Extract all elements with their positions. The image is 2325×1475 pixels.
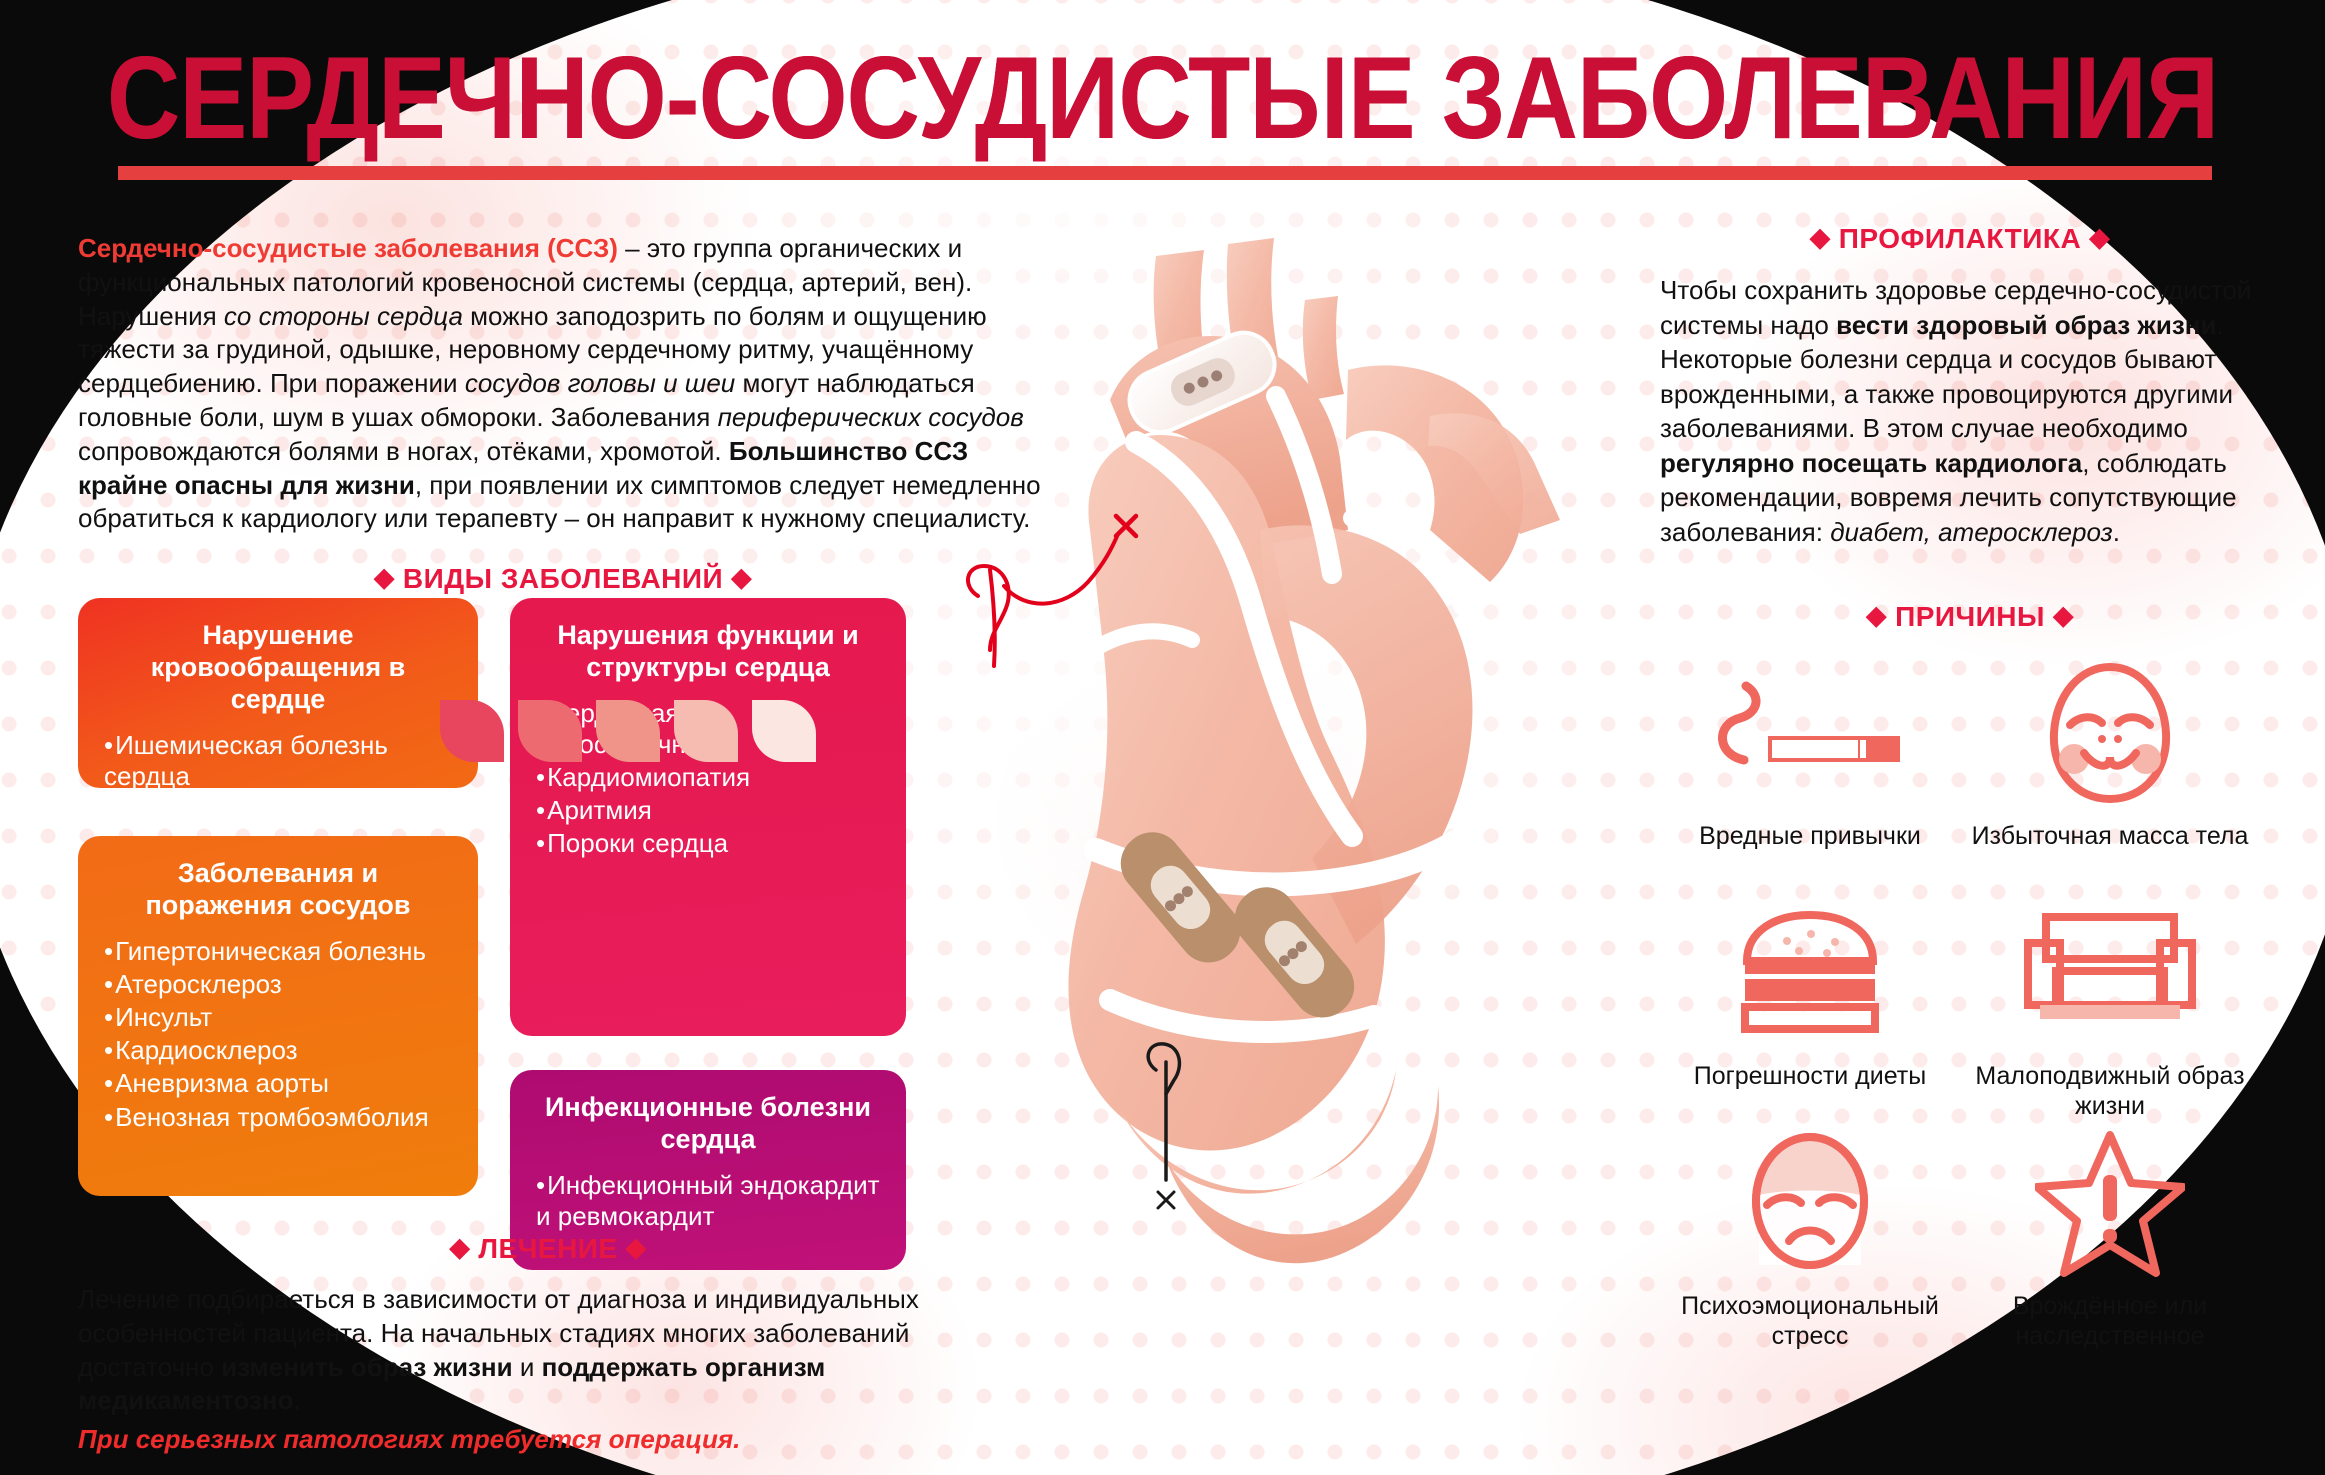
cause-label: Психоэмоциональный стресс	[1660, 1291, 1960, 1351]
intro-lead: Сердечно-сосудистые заболевания (ССЗ)	[78, 233, 618, 263]
diamond-icon: ◆	[626, 1232, 647, 1262]
card-circulation-title: Нарушение кровообращения в сердце	[104, 620, 452, 716]
treatment-note: При серьезных патологиях требуется опера…	[78, 1424, 1018, 1455]
card-function[interactable]: Нарушения функции и структуры сердца Сер…	[510, 598, 906, 1036]
diamond-icon: ◆	[731, 562, 752, 592]
intro-block: Сердечно-сосудистые заболевания (ССЗ) – …	[78, 232, 1048, 613]
card-infectious-title: Инфекционные болезни сердца	[536, 1092, 880, 1156]
card-infectious-list: Инфекционный эндокардит и ревмокардит	[536, 1170, 880, 1232]
prevention-block: ◆ ПРОФИЛАКТИКА ◆ Чтобы сохранить здоровь…	[1660, 222, 2260, 550]
list-item: Аневризма аорты	[104, 1068, 452, 1099]
cause-item-hereditary[interactable]: Врождённое или наследственное	[1960, 1129, 2260, 1351]
diamond-icon: ◆	[2090, 222, 2111, 252]
cause-label: Врождённое или наследственное	[1960, 1291, 2260, 1351]
treatment-section-heading: ◆ ЛЕЧЕНИЕ ◆	[78, 1232, 1018, 1265]
card-vessels-list: Гипертоническая болезнь Атеросклероз Инс…	[104, 936, 452, 1133]
cigarette-icon	[1660, 659, 1960, 809]
types-section-heading: ◆ ВИДЫ ЗАБОЛЕВАНИЙ ◆	[78, 562, 1048, 595]
list-item: Инсульт	[104, 1002, 452, 1033]
causes-section-heading: ◆ ПРИЧИНЫ ◆	[1660, 600, 2280, 633]
diamond-icon: ◆	[1866, 600, 1887, 630]
types-heading-label: ВИДЫ ЗАБОЛЕВАНИЙ	[403, 563, 723, 594]
card-circulation-list: Ишемическая болезнь сердца Инфаркт миока…	[104, 730, 452, 826]
list-item: Кардиомиопатия	[536, 762, 880, 793]
prevention-paragraph: Чтобы сохранить здоровье сердечно-сосуди…	[1660, 273, 2260, 550]
card-vessels-title: Заболевания и поражения сосудов	[104, 858, 452, 922]
intro-d: сопровождаются болями в ногах, отёками, …	[78, 436, 729, 466]
list-item: Инфаркт миокарда	[104, 794, 452, 825]
treatment-paragraph: Лечение подбираеться в зависимости от ди…	[78, 1283, 1018, 1418]
diamond-icon: ◆	[450, 1232, 471, 1262]
prev-i: диабет, атеросклероз	[1830, 517, 2113, 547]
cause-item-stress[interactable]: Психоэмоциональный стресс	[1660, 1129, 1960, 1351]
petal-shape	[674, 700, 738, 762]
petal-shape	[752, 700, 816, 762]
list-item: Кардиосклероз	[104, 1035, 452, 1066]
list-item: Ишемическая болезнь сердца	[104, 730, 452, 792]
list-item: Инфекционный эндокардит и ревмокардит	[536, 1170, 880, 1232]
treat-d: .	[294, 1385, 301, 1415]
causes-heading-label: ПРИЧИНЫ	[1895, 601, 2045, 632]
prevention-section-heading: ◆ ПРОФИЛАКТИКА ◆	[1660, 222, 2260, 255]
list-item: Атеросклероз	[104, 969, 452, 1000]
cause-item-sedentary[interactable]: Малоподвижный образ жизни	[1960, 899, 2260, 1121]
cause-label: Погрешности диеты	[1660, 1061, 1960, 1091]
diamond-icon: ◆	[2053, 600, 2074, 630]
sad-face-icon	[1660, 1129, 1960, 1279]
diamond-icon: ◆	[1810, 222, 1831, 252]
sofa-icon	[1960, 899, 2260, 1049]
causes-block: ◆ ПРИЧИНЫ ◆ Вредные привычки	[1660, 600, 2280, 1299]
intro-i1: со стороны сердца	[224, 301, 463, 331]
cause-item-overweight[interactable]: Избыточная масса тела	[1960, 659, 2260, 851]
poster-title-wrap: СЕРДЕЧНО-СОСУДИСТЫЕ ЗАБОЛЕВАНИЯ	[0, 44, 2325, 154]
overweight-face-icon	[1960, 659, 2260, 809]
cause-item-bad-habits[interactable]: Вредные привычки	[1660, 659, 1960, 851]
petal-shape	[440, 700, 504, 762]
intro-i3: периферических сосудов	[718, 402, 1024, 432]
cause-label: Малоподвижный образ жизни	[1960, 1061, 2260, 1121]
star-alert-icon	[1960, 1129, 2260, 1279]
list-item: Аритмия	[536, 795, 880, 826]
list-item: Гипертоническая болезнь	[104, 936, 452, 967]
causes-icon-grid: Вредные привычки Избыточна	[1660, 659, 2280, 1299]
treatment-heading-label: ЛЕЧЕНИЕ	[478, 1233, 617, 1264]
petal-shape	[596, 700, 660, 762]
intro-paragraph: Сердечно-сосудистые заболевания (ССЗ) – …	[78, 232, 1048, 536]
prev-e: .	[2113, 517, 2120, 547]
intro-i2: сосудов головы и шеи	[465, 368, 735, 398]
petal-shape	[518, 700, 582, 762]
prev-b1: вести здоровый образ жизни	[1836, 310, 2216, 340]
page-title: СЕРДЕЧНО-СОСУДИСТЫЕ ЗАБОЛЕВАНИЯ	[0, 32, 2325, 166]
card-vessels[interactable]: Заболевания и поражения сосудов Гипертон…	[78, 836, 478, 1196]
decorative-petal-row	[440, 700, 816, 762]
treatment-block: ◆ ЛЕЧЕНИЕ ◆ Лечение подбираеться в завис…	[78, 1232, 1018, 1455]
prev-b2: регулярно посещать кардиолога	[1660, 448, 2082, 478]
infographic-poster: СЕРДЕЧНО-СОСУДИСТЫЕ ЗАБОЛЕВАНИЯ	[0, 0, 2325, 1475]
cause-item-diet[interactable]: Погрешности диеты	[1660, 899, 1960, 1091]
treat-c: и	[513, 1352, 542, 1382]
treat-b1: изменить образ жизни	[221, 1352, 512, 1382]
cause-label: Избыточная масса тела	[1960, 821, 2260, 851]
cause-label: Вредные привычки	[1660, 821, 1960, 851]
card-circulation[interactable]: Нарушение кровообращения в сердце Ишемич…	[78, 598, 478, 788]
prevention-heading-label: ПРОФИЛАКТИКА	[1839, 223, 2081, 254]
diamond-icon: ◆	[374, 562, 395, 592]
card-function-title: Нарушения функции и структуры сердца	[536, 620, 880, 684]
burger-icon	[1660, 899, 1960, 1049]
list-item: Пороки сердца	[536, 828, 880, 859]
title-underline-rule	[118, 166, 2212, 180]
anatomical-heart-illustration	[960, 230, 1600, 1300]
list-item: Венозная тромбоэмболия	[104, 1102, 452, 1133]
